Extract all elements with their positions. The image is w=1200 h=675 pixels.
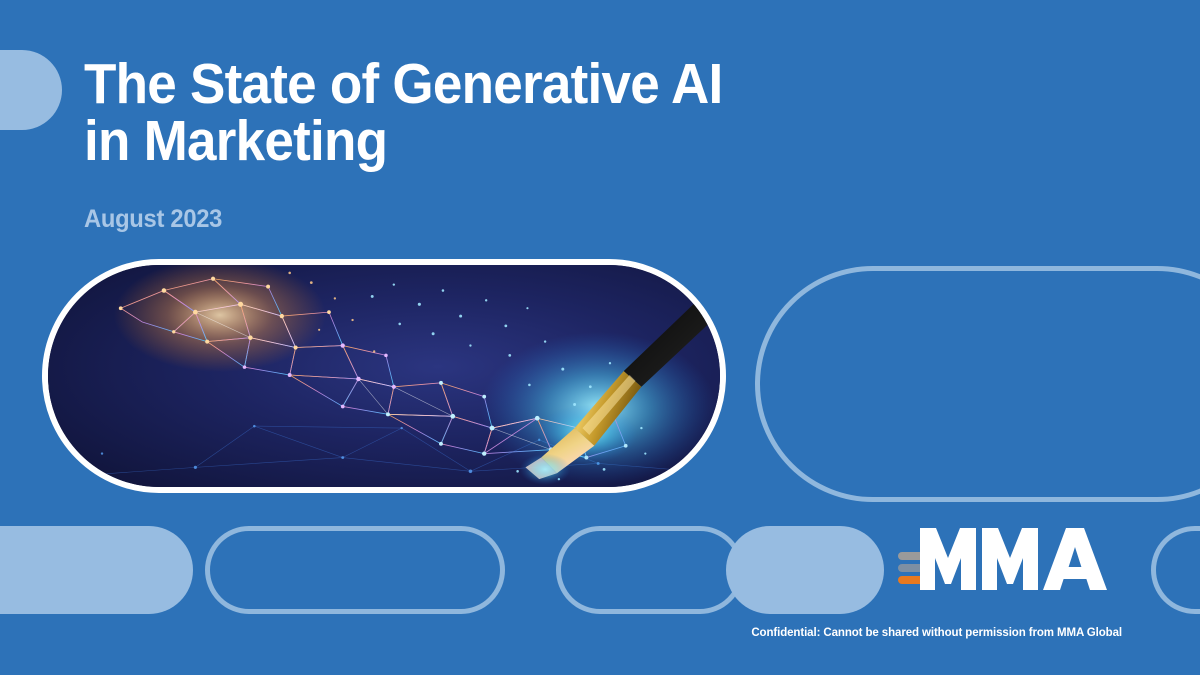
decorative-pill-bottom-1 [0,526,193,614]
mma-logo-artwork [898,522,1128,594]
decorative-pill-bottom-5 [1151,526,1200,614]
confidential-footer: Confidential: Cannot be shared without p… [0,627,1122,639]
decorative-pill-bottom-3 [556,526,744,614]
hero-image-generative-ai-brush [42,259,726,493]
headline-block: The State of Generative AI in Marketing … [84,56,844,232]
title-slide: The State of Generative AI in Marketing … [0,0,1200,675]
decorative-pill-bottom-4 [726,526,884,614]
decorative-pill-bottom-2 [205,526,505,614]
decorative-pill-right-large [755,266,1200,502]
decorative-pill-top-left [0,50,62,130]
mma-logo [898,522,1128,594]
page-title: The State of Generative AI in Marketing [84,56,791,170]
page-subtitle: August 2023 [84,207,806,232]
logo-wordmark [920,528,1107,590]
hero-artwork [48,265,720,487]
